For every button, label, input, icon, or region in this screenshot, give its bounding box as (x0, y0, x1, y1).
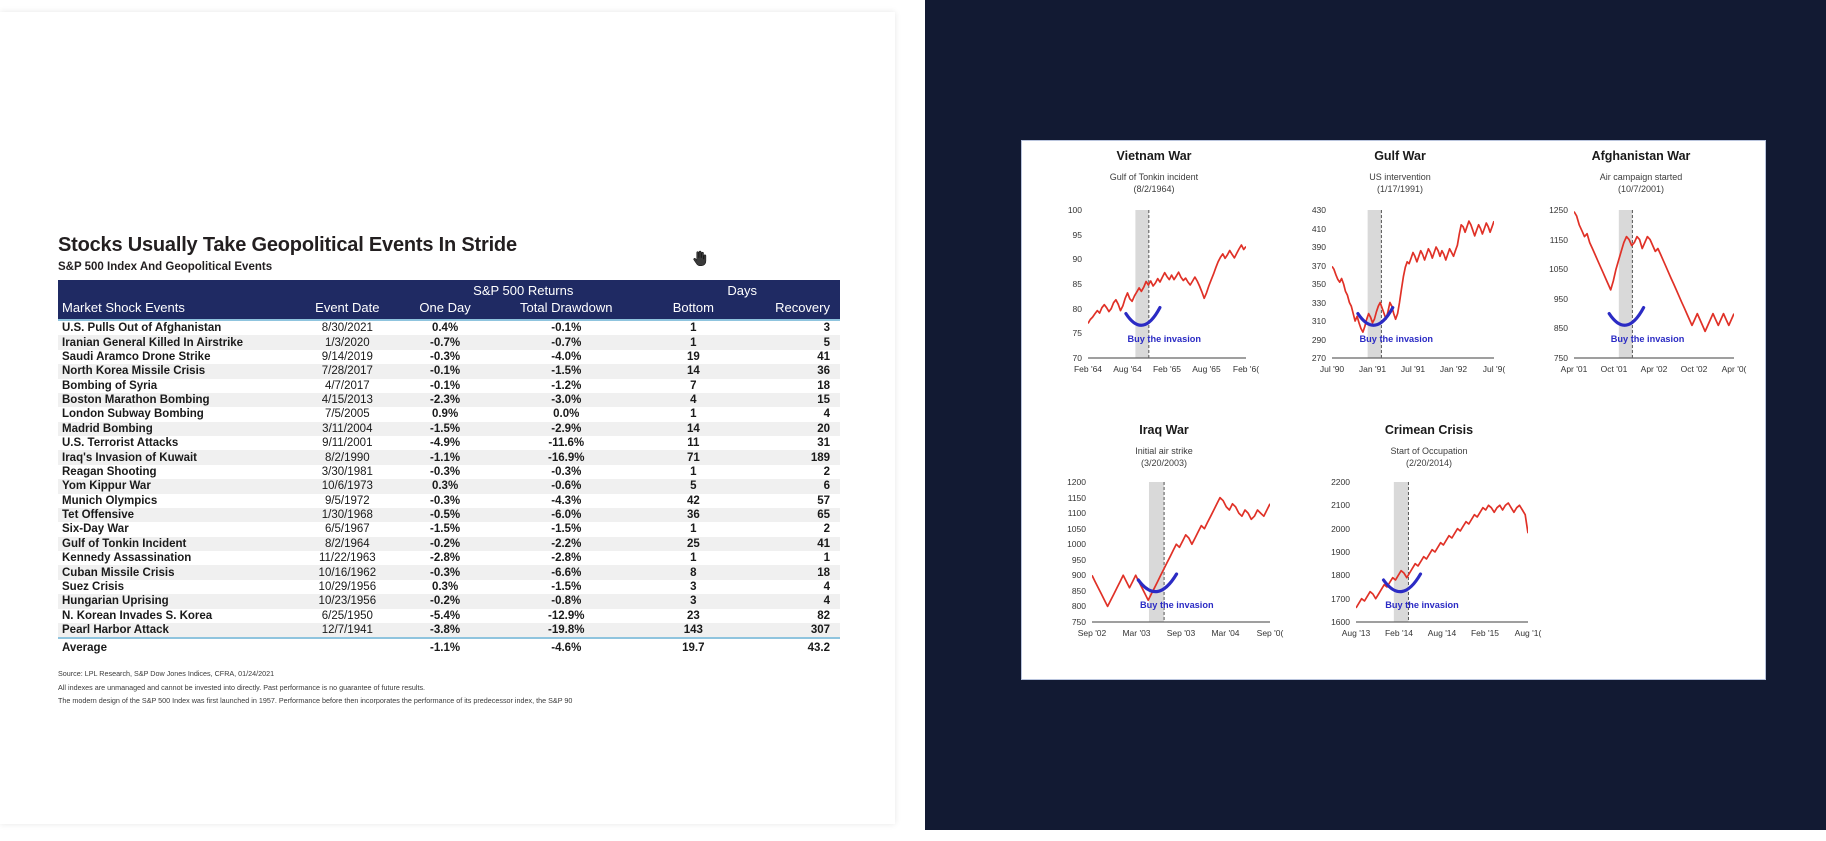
cell-one-day: -5.4% (402, 609, 488, 623)
cell-event: Kennedy Assassination (58, 551, 293, 565)
cell-date: 8/30/2021 (293, 320, 402, 335)
cell-recovery: 20 (742, 422, 840, 436)
cell-recovery: 6 (742, 479, 840, 493)
table-row: Boston Marathon Bombing4/15/2013-2.3%-3.… (58, 393, 840, 407)
cell-drawdown: -0.7% (488, 335, 644, 349)
cell-one-day: -0.7% (402, 335, 488, 349)
buy-the-invasion-label: Buy the invasion (1360, 334, 1434, 344)
table-row: N. Korean Invades S. Korea6/25/1950-5.4%… (58, 609, 840, 623)
x-axis-tick-label: Sep '03 (1157, 628, 1205, 638)
geopolitical-table-block: Stocks Usually Take Geopolitical Events … (58, 234, 840, 708)
price-line (1092, 498, 1270, 607)
cell-recovery: 2 (742, 465, 840, 479)
cell-recovery: 3 (742, 320, 840, 335)
cell-date: 12/7/1941 (293, 623, 402, 638)
cell-recovery: 1 (742, 551, 840, 565)
table-row: U.S. Pulls Out of Afghanistan8/30/20210.… (58, 320, 840, 335)
table-row: Tet Offensive1/30/1968-0.5%-6.0%3665 (58, 508, 840, 522)
slide-card: Stocks Usually Take Geopolitical Events … (0, 12, 895, 824)
y-axis-tick-label: 1050 (1030, 524, 1086, 534)
cell-bottom: 143 (644, 623, 742, 638)
footnote-line-2: All indexes are unmanaged and cannot be … (58, 681, 840, 695)
y-axis-tick-label: 330 (1278, 298, 1326, 308)
bottom-strip (0, 830, 1826, 841)
y-axis-tick-label: 1600 (1298, 617, 1350, 627)
chart-annotation-event: Air campaign started (1600, 172, 1683, 182)
cell-drawdown: -1.5% (488, 364, 644, 378)
y-axis-tick-label: 1250 (1522, 205, 1568, 215)
cell-recovery: 189 (742, 450, 840, 464)
cell-recovery: 57 (742, 494, 840, 508)
cell-date: 4/7/2017 (293, 379, 402, 393)
events-table: S&P 500 Returns Days Market Shock Events… (58, 280, 840, 655)
y-axis-tick-label: 750 (1030, 617, 1086, 627)
chart-annotation-date: (2/20/2014) (1298, 457, 1560, 469)
cell-recovery: 36 (742, 364, 840, 378)
y-axis-tick-label: 290 (1278, 335, 1326, 345)
cell-date: 7/28/2017 (293, 364, 402, 378)
y-axis-tick-label: 1100 (1030, 508, 1086, 518)
cell-bottom: 14 (644, 364, 742, 378)
column-header-bottom: Bottom (644, 299, 742, 320)
chart-plot-area: 125011501050950850750Buy the invasionApr… (1522, 210, 1760, 384)
cell-bottom: 1 (644, 551, 742, 565)
cell-event: Pearl Harbor Attack (58, 623, 293, 638)
cell-one-day: -3.8% (402, 623, 488, 638)
cell-one-day: -0.3% (402, 465, 488, 479)
average-label: Average (58, 638, 293, 655)
table-row: Hungarian Uprising10/23/1956-0.2%-0.8%34 (58, 594, 840, 608)
y-axis-tick-label: 1150 (1522, 235, 1568, 245)
price-line (1574, 212, 1734, 332)
cell-drawdown: -19.8% (488, 623, 644, 638)
cell-one-day: 0.3% (402, 479, 488, 493)
cell-bottom: 11 (644, 436, 742, 450)
x-axis-tick-label: Aug '1( (1504, 628, 1552, 638)
table-row: North Korea Missile Crisis7/28/2017-0.1%… (58, 364, 840, 378)
cell-drawdown: -6.6% (488, 565, 644, 579)
cell-one-day: -0.1% (402, 379, 488, 393)
y-axis-tick-label: 950 (1522, 294, 1568, 304)
y-axis-tick-label: 270 (1278, 353, 1326, 363)
chart-annotation: Air campaign started(10/7/2001) (1522, 171, 1760, 195)
cell-one-day: -0.3% (402, 350, 488, 364)
chart-row-bottom: Iraq WarInitial air strike(3/20/2003)120… (1030, 423, 1560, 673)
table-row: Saudi Aramco Drone Strike9/14/2019-0.3%-… (58, 350, 840, 364)
average-one-day: -1.1% (402, 638, 488, 655)
cell-date: 9/5/1972 (293, 494, 402, 508)
y-axis-tick-label: 75 (1030, 328, 1082, 338)
cell-date: 8/2/1990 (293, 450, 402, 464)
cell-recovery: 4 (742, 580, 840, 594)
y-axis-tick-label: 410 (1278, 224, 1326, 234)
cell-event: N. Korean Invades S. Korea (58, 609, 293, 623)
cell-date: 9/14/2019 (293, 350, 402, 364)
x-axis-tick-label: Jul '9( (1470, 364, 1518, 374)
cell-drawdown: -1.5% (488, 580, 644, 594)
cell-event: Tet Offensive (58, 508, 293, 522)
chart-annotation: Gulf of Tonkin incident(8/2/1964) (1030, 171, 1278, 195)
cell-event: Boston Marathon Bombing (58, 393, 293, 407)
cell-event: London Subway Bombing (58, 407, 293, 421)
cell-one-day: -0.1% (402, 364, 488, 378)
cell-bottom: 5 (644, 479, 742, 493)
chart-annotation: Start of Occupation(2/20/2014) (1298, 445, 1560, 469)
chart-row-top: Vietnam WarGulf of Tonkin incident(8/2/1… (1030, 149, 1760, 411)
cell-date: 1/30/1968 (293, 508, 402, 522)
cell-event: Reagan Shooting (58, 465, 293, 479)
charts-card: Vietnam WarGulf of Tonkin incident(8/2/1… (1021, 140, 1766, 680)
price-line (1088, 245, 1246, 324)
cell-recovery: 82 (742, 609, 840, 623)
table-body: U.S. Pulls Out of Afghanistan8/30/20210.… (58, 320, 840, 655)
cell-drawdown: -3.0% (488, 393, 644, 407)
cell-recovery: 18 (742, 379, 840, 393)
cell-drawdown: -1.2% (488, 379, 644, 393)
cell-event: Madrid Bombing (58, 422, 293, 436)
y-axis-tick-label: 1200 (1030, 477, 1086, 487)
hand-cursor-icon (690, 250, 708, 268)
y-axis-tick-label: 80 (1030, 304, 1082, 314)
group-header-days: Days (644, 280, 840, 299)
cell-drawdown: 0.0% (488, 407, 644, 421)
cell-event: North Korea Missile Crisis (58, 364, 293, 378)
cell-event: Gulf of Tonkin Incident (58, 537, 293, 551)
chart-title: Vietnam War (1030, 149, 1278, 163)
table-row: Gulf of Tonkin Incident8/2/1964-0.2%-2.2… (58, 537, 840, 551)
y-axis-tick-label: 1150 (1030, 493, 1086, 503)
cell-recovery: 2 (742, 522, 840, 536)
cell-bottom: 42 (644, 494, 742, 508)
average-drawdown: -4.6% (488, 638, 644, 655)
cell-one-day: -4.9% (402, 436, 488, 450)
mini-chart-vietnam-war: Vietnam WarGulf of Tonkin incident(8/2/1… (1030, 149, 1278, 411)
cell-date: 11/22/1963 (293, 551, 402, 565)
table-head: S&P 500 Returns Days Market Shock Events… (58, 280, 840, 320)
cell-one-day: 0.4% (402, 320, 488, 335)
cell-drawdown: -2.2% (488, 537, 644, 551)
cell-bottom: 19 (644, 350, 742, 364)
chart-title: Afghanistan War (1522, 149, 1760, 163)
chart-plot-area: 2200210020001900180017001600Buy the inva… (1298, 482, 1560, 648)
y-axis-tick-label: 850 (1522, 323, 1568, 333)
cell-one-day: -2.8% (402, 551, 488, 565)
cell-drawdown: -0.1% (488, 320, 644, 335)
cell-event: Munich Olympics (58, 494, 293, 508)
cell-date: 3/11/2004 (293, 422, 402, 436)
chart-plot-area: 430410390370350330310290270Buy the invas… (1278, 210, 1522, 384)
charts-pane: Vietnam WarGulf of Tonkin incident(8/2/1… (925, 0, 1826, 841)
cell-date: 8/2/1964 (293, 537, 402, 551)
x-axis-tick-label: Feb '14 (1375, 628, 1423, 638)
chart-annotation-date: (3/20/2003) (1030, 457, 1298, 469)
x-axis-tick-label: Feb '15 (1461, 628, 1509, 638)
x-axis-tick-label: Sep '02 (1068, 628, 1116, 638)
cell-event: Cuban Missile Crisis (58, 565, 293, 579)
cell-bottom: 3 (644, 594, 742, 608)
y-axis-tick-label: 800 (1030, 601, 1086, 611)
group-header-returns: S&P 500 Returns (402, 280, 644, 299)
table-row: Madrid Bombing3/11/2004-1.5%-2.9%1420 (58, 422, 840, 436)
table-row: Reagan Shooting3/30/1981-0.3%-0.3%12 (58, 465, 840, 479)
y-axis-tick-label: 85 (1030, 279, 1082, 289)
y-axis-tick-label: 100 (1030, 205, 1082, 215)
table-row: Munich Olympics9/5/1972-0.3%-4.3%4257 (58, 494, 840, 508)
y-axis-tick-label: 1800 (1298, 570, 1350, 580)
column-header-drawdown: Total Drawdown (488, 299, 644, 320)
buy-the-invasion-label: Buy the invasion (1128, 334, 1202, 344)
chart-plot-area: 12001150110010501000950900850800750Buy t… (1030, 482, 1298, 648)
cell-one-day: -1.5% (402, 522, 488, 536)
y-axis-tick-label: 2000 (1298, 524, 1350, 534)
cell-one-day: 0.3% (402, 580, 488, 594)
cell-bottom: 25 (644, 537, 742, 551)
chart-plot-area: 100959085807570Buy the invasionFeb '64Au… (1030, 210, 1278, 384)
cell-one-day: -0.5% (402, 508, 488, 522)
mini-chart-gulf-war: Gulf WarUS intervention(1/17/1991)430410… (1278, 149, 1522, 411)
cell-bottom: 1 (644, 335, 742, 349)
y-axis-tick-label: 310 (1278, 316, 1326, 326)
cell-event: Saudi Aramco Drone Strike (58, 350, 293, 364)
table-row: Pearl Harbor Attack12/7/1941-3.8%-19.8%1… (58, 623, 840, 638)
table-row: Suez Crisis10/29/19560.3%-1.5%34 (58, 580, 840, 594)
cell-bottom: 1 (644, 320, 742, 335)
chart-title: Gulf War (1278, 149, 1522, 163)
footnotes: Source: LPL Research, S&P Dow Jones Indi… (58, 667, 840, 708)
y-axis-tick-label: 70 (1030, 353, 1082, 363)
cell-bottom: 1 (644, 465, 742, 479)
cell-date: 10/29/1956 (293, 580, 402, 594)
cell-drawdown: -4.0% (488, 350, 644, 364)
cell-event: Yom Kippur War (58, 479, 293, 493)
cell-one-day: -1.1% (402, 450, 488, 464)
cell-event: U.S. Pulls Out of Afghanistan (58, 320, 293, 335)
y-axis-tick-label: 90 (1030, 254, 1082, 264)
cell-one-day: 0.9% (402, 407, 488, 421)
footnote-line-3: The modern design of the S&P 500 Index w… (58, 694, 840, 708)
table-average-row: Average-1.1%-4.6%19.743.2 (58, 638, 840, 655)
y-axis-tick-label: 390 (1278, 242, 1326, 252)
x-axis-tick-label: Apr '0( (1710, 364, 1758, 374)
cell-date: 7/5/2005 (293, 407, 402, 421)
cell-one-day: -1.5% (402, 422, 488, 436)
y-axis-tick-label: 2200 (1298, 477, 1350, 487)
x-axis-tick-label: Aug '14 (1418, 628, 1466, 638)
cell-bottom: 8 (644, 565, 742, 579)
cell-date: 6/25/1950 (293, 609, 402, 623)
cell-one-day: -0.3% (402, 565, 488, 579)
cell-bottom: 14 (644, 422, 742, 436)
cell-drawdown: -4.3% (488, 494, 644, 508)
chart-annotation-event: Gulf of Tonkin incident (1110, 172, 1198, 182)
cell-date: 3/30/1981 (293, 465, 402, 479)
group-header-blank (58, 280, 402, 299)
cell-recovery: 18 (742, 565, 840, 579)
column-header-oneday: One Day (402, 299, 488, 320)
cell-recovery: 4 (742, 407, 840, 421)
cell-drawdown: -2.8% (488, 551, 644, 565)
cell-recovery: 41 (742, 350, 840, 364)
cell-date: 9/11/2001 (293, 436, 402, 450)
chart-title: Iraq War (1030, 423, 1298, 437)
cell-recovery: 31 (742, 436, 840, 450)
cell-event: U.S. Terrorist Attacks (58, 436, 293, 450)
y-axis-tick-label: 850 (1030, 586, 1086, 596)
cell-drawdown: -11.6% (488, 436, 644, 450)
cell-drawdown: -6.0% (488, 508, 644, 522)
cell-date: 10/23/1956 (293, 594, 402, 608)
chart-annotation-event: Start of Occupation (1390, 446, 1467, 456)
cell-event: Iraq's Invasion of Kuwait (58, 450, 293, 464)
slide-pane: Stocks Usually Take Geopolitical Events … (0, 0, 925, 841)
y-axis-tick-label: 750 (1522, 353, 1568, 363)
cell-event: Iranian General Killed In Airstrike (58, 335, 293, 349)
table-row: London Subway Bombing7/5/20050.9%0.0%14 (58, 407, 840, 421)
y-axis-tick-label: 1000 (1030, 539, 1086, 549)
buy-the-invasion-label: Buy the invasion (1140, 600, 1214, 610)
cell-one-day: -0.2% (402, 594, 488, 608)
average-bottom: 19.7 (644, 638, 742, 655)
page-title: Stocks Usually Take Geopolitical Events … (58, 234, 840, 257)
cell-event: Hungarian Uprising (58, 594, 293, 608)
cell-drawdown: -1.5% (488, 522, 644, 536)
cell-recovery: 5 (742, 335, 840, 349)
column-header-recovery: Recovery (742, 299, 840, 320)
buy-the-invasion-label: Buy the invasion (1385, 600, 1459, 610)
y-axis-tick-label: 430 (1278, 205, 1326, 215)
table-row: Bombing of Syria4/7/2017-0.1%-1.2%718 (58, 379, 840, 393)
cell-bottom: 36 (644, 508, 742, 522)
cell-event: Six-Day War (58, 522, 293, 536)
table-column-header-row: Market Shock Events Event Date One Day T… (58, 299, 840, 320)
cell-date: 10/16/1962 (293, 565, 402, 579)
cell-drawdown: -0.8% (488, 594, 644, 608)
y-axis-tick-label: 2100 (1298, 500, 1350, 510)
chart-annotation: US intervention(1/17/1991) (1278, 171, 1522, 195)
column-header-event: Market Shock Events (58, 299, 293, 320)
cell-recovery: 307 (742, 623, 840, 638)
cell-one-day: -2.3% (402, 393, 488, 407)
column-header-date: Event Date (293, 299, 402, 320)
cell-bottom: 1 (644, 522, 742, 536)
cell-bottom: 23 (644, 609, 742, 623)
cell-drawdown: -0.3% (488, 465, 644, 479)
mini-chart-crimean-crisis: Crimean CrisisStart of Occupation(2/20/2… (1298, 423, 1560, 673)
mini-chart-iraq-war: Iraq WarInitial air strike(3/20/2003)120… (1030, 423, 1298, 673)
table-row: Yom Kippur War10/6/19730.3%-0.6%56 (58, 479, 840, 493)
x-axis-tick-label: Mar '03 (1113, 628, 1161, 638)
table-row: Iranian General Killed In Airstrike1/3/2… (58, 335, 840, 349)
cell-event: Suez Crisis (58, 580, 293, 594)
cell-date: 4/15/2013 (293, 393, 402, 407)
table-row: Iraq's Invasion of Kuwait8/2/1990-1.1%-1… (58, 450, 840, 464)
x-axis-tick-label: Feb '6( (1222, 364, 1270, 374)
chart-annotation-date: (8/2/1964) (1030, 183, 1278, 195)
x-axis-tick-label: Aug '13 (1332, 628, 1380, 638)
cell-recovery: 41 (742, 537, 840, 551)
table-row: Six-Day War6/5/1967-1.5%-1.5%12 (58, 522, 840, 536)
chart-annotation: Initial air strike(3/20/2003) (1030, 445, 1298, 469)
cell-drawdown: -0.6% (488, 479, 644, 493)
buy-the-invasion-label: Buy the invasion (1611, 334, 1685, 344)
cell-date: 1/3/2020 (293, 335, 402, 349)
y-axis-tick-label: 1700 (1298, 594, 1350, 604)
table-group-header-row: S&P 500 Returns Days (58, 280, 840, 299)
y-axis-tick-label: 95 (1030, 230, 1082, 240)
price-line (1356, 503, 1528, 608)
chart-annotation-event: US intervention (1369, 172, 1431, 182)
cell-one-day: -0.2% (402, 537, 488, 551)
cell-recovery: 15 (742, 393, 840, 407)
cell-bottom: 4 (644, 393, 742, 407)
page-subtitle: S&P 500 Index And Geopolitical Events (58, 261, 840, 273)
cell-drawdown: -16.9% (488, 450, 644, 464)
screen-root: Stocks Usually Take Geopolitical Events … (0, 0, 1826, 841)
average-recovery: 43.2 (742, 638, 840, 655)
cell-bottom: 7 (644, 379, 742, 393)
cell-date: 6/5/1967 (293, 522, 402, 536)
x-axis-tick-label: Mar '04 (1202, 628, 1250, 638)
table-row: Cuban Missile Crisis10/16/1962-0.3%-6.6%… (58, 565, 840, 579)
chart-annotation-event: Initial air strike (1135, 446, 1193, 456)
cell-bottom: 1 (644, 407, 742, 421)
footnote-line-1: Source: LPL Research, S&P Dow Jones Indi… (58, 667, 840, 681)
cell-one-day: -0.3% (402, 494, 488, 508)
chart-annotation-date: (1/17/1991) (1278, 183, 1522, 195)
chart-annotation-date: (10/7/2001) (1522, 183, 1760, 195)
average-date (293, 638, 402, 655)
y-axis-tick-label: 350 (1278, 279, 1326, 289)
cell-bottom: 3 (644, 580, 742, 594)
mini-chart-afghanistan-war: Afghanistan WarAir campaign started(10/7… (1522, 149, 1760, 411)
cell-recovery: 65 (742, 508, 840, 522)
price-line (1332, 221, 1494, 332)
cell-date: 10/6/1973 (293, 479, 402, 493)
chart-title: Crimean Crisis (1298, 423, 1560, 437)
y-axis-tick-label: 1050 (1522, 264, 1568, 274)
table-row: U.S. Terrorist Attacks9/11/2001-4.9%-11.… (58, 436, 840, 450)
x-axis-tick-label: Sep '0( (1246, 628, 1294, 638)
cell-event: Bombing of Syria (58, 379, 293, 393)
y-axis-tick-label: 1900 (1298, 547, 1350, 557)
table-row: Kennedy Assassination11/22/1963-2.8%-2.8… (58, 551, 840, 565)
cell-drawdown: -2.9% (488, 422, 644, 436)
cell-drawdown: -12.9% (488, 609, 644, 623)
y-axis-tick-label: 370 (1278, 261, 1326, 271)
y-axis-tick-label: 900 (1030, 570, 1086, 580)
cell-bottom: 71 (644, 450, 742, 464)
cell-recovery: 4 (742, 594, 840, 608)
y-axis-tick-label: 950 (1030, 555, 1086, 565)
